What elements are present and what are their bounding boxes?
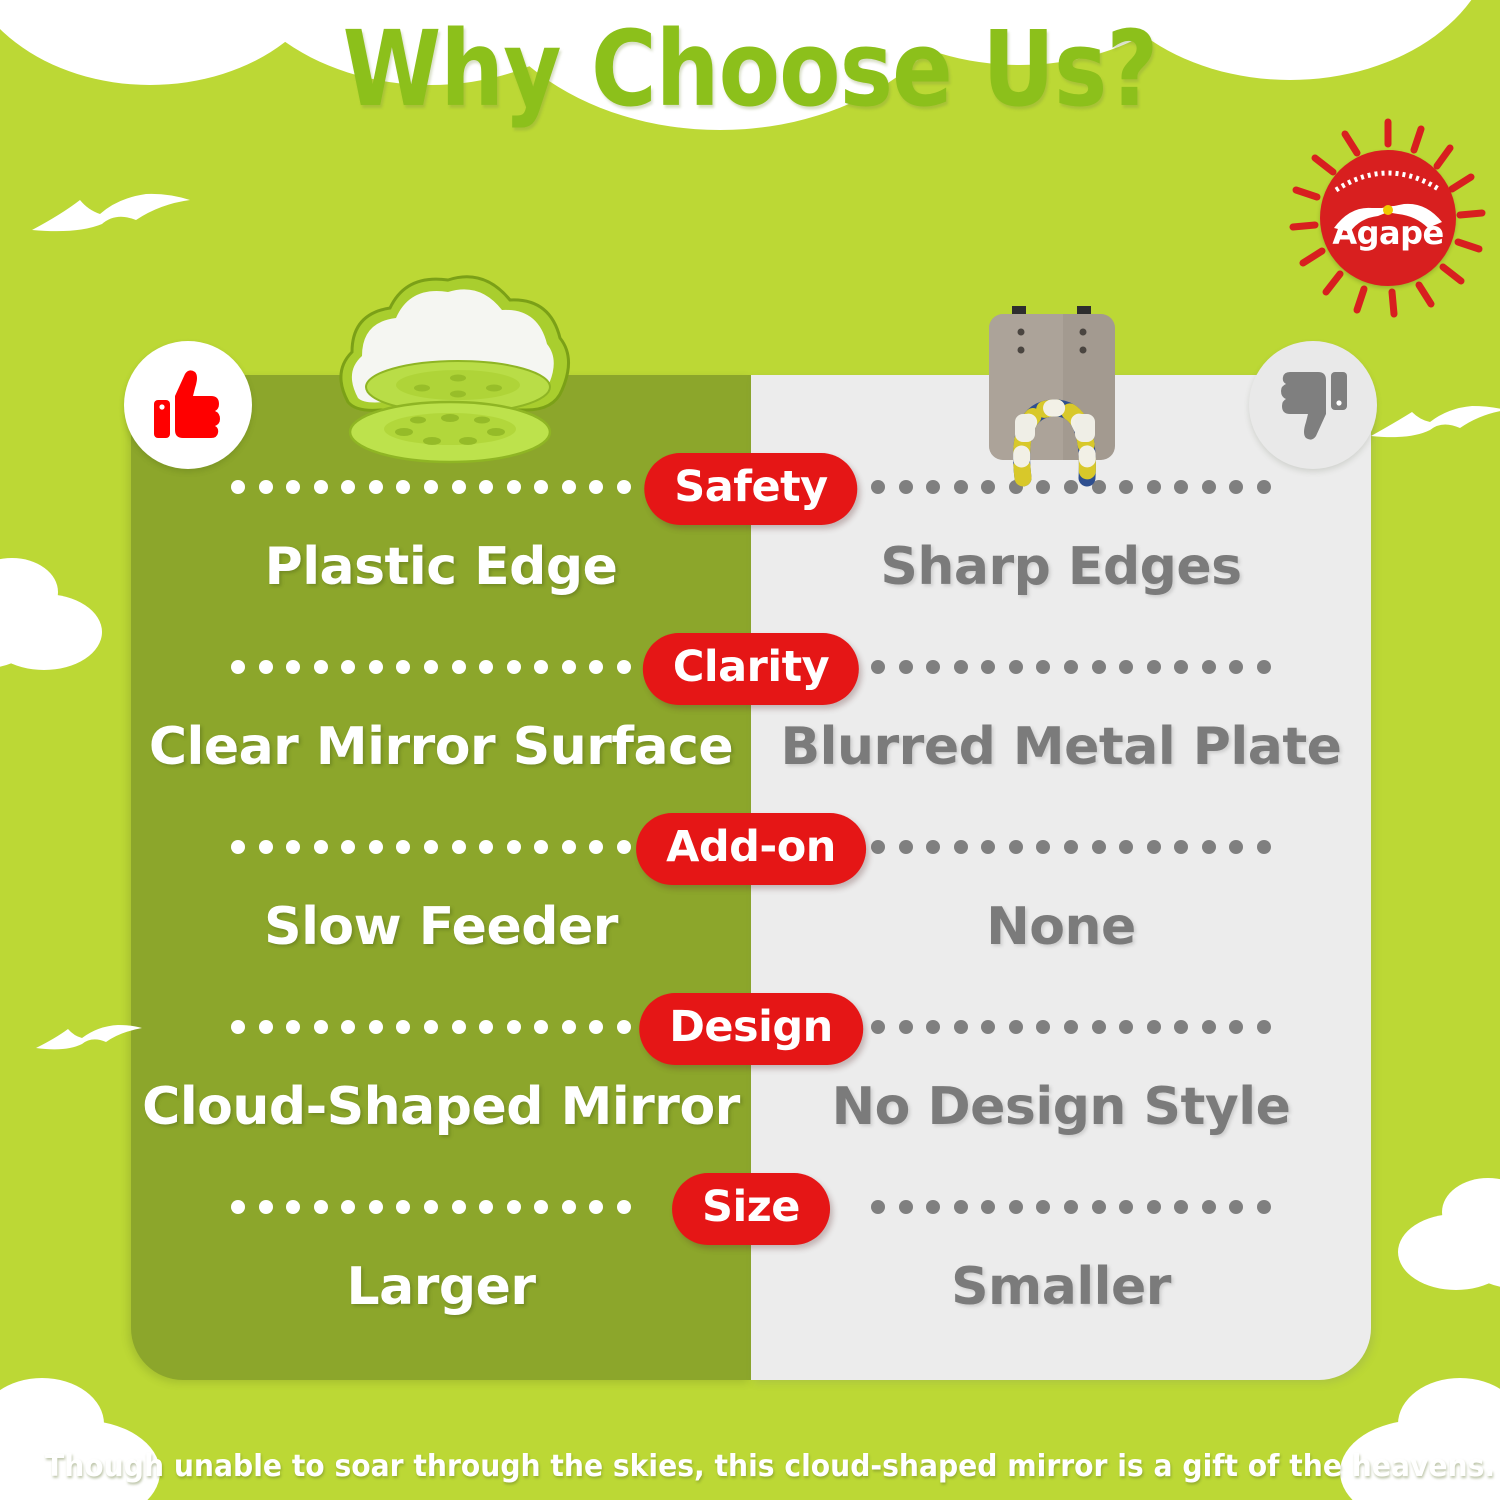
- comparison-row: Clarity Clear Mirror Surface Blurred Met…: [131, 625, 1371, 799]
- thumbs-up-icon: [147, 364, 229, 446]
- logo-text: Agape: [1320, 214, 1456, 252]
- cloud-decoration-right-mid: [1386, 1160, 1500, 1290]
- comparison-row: Safety Plastic Edge Sharp Edges: [131, 445, 1371, 619]
- dotted-line-right: [871, 1020, 1271, 1034]
- criterion-badge-safety: Safety: [644, 453, 857, 525]
- bird-icon-top-left: [28, 186, 198, 236]
- good-value-addon: Slow Feeder: [141, 897, 741, 957]
- bad-value-safety: Sharp Edges: [761, 537, 1361, 597]
- bad-value-design: No Design Style: [761, 1077, 1361, 1137]
- thumbs-down-icon: [1272, 364, 1354, 446]
- thumbs-up-badge: [124, 341, 252, 469]
- infographic-canvas: Why Choose Us?: [0, 0, 1500, 1500]
- bad-value-addon: None: [761, 897, 1361, 957]
- criterion-badge-design: Design: [639, 993, 863, 1065]
- dotted-line-right: [871, 1200, 1271, 1214]
- dotted-line-right: [871, 840, 1271, 854]
- criterion-badge-size: Size: [672, 1173, 830, 1245]
- bird-icon-left-mid: [34, 1018, 144, 1054]
- good-value-design: Cloud-Shaped Mirror: [141, 1077, 741, 1137]
- dotted-line-left: [231, 1200, 631, 1214]
- bad-value-size: Smaller: [761, 1257, 1361, 1317]
- bottom-caption: Though unable to soar through the skies,…: [45, 1449, 1455, 1484]
- dotted-line-left: [231, 1020, 631, 1034]
- criterion-badge-addon: Add-on: [636, 813, 866, 885]
- cloud-mirror-product-image: [318, 252, 588, 467]
- comparison-rows: Safety Plastic Edge Sharp Edges Clarity …: [131, 375, 1371, 1380]
- bird-icon-right: [1368, 398, 1500, 442]
- good-value-clarity: Clear Mirror Surface: [141, 717, 741, 777]
- dotted-line-right: [871, 660, 1271, 674]
- dotted-line-left: [231, 480, 631, 494]
- dotted-line-left: [231, 660, 631, 674]
- good-value-safety: Plastic Edge: [141, 537, 741, 597]
- agape-logo[interactable]: Agape: [1288, 118, 1488, 318]
- comparison-row: Size Larger Smaller: [131, 1165, 1371, 1339]
- thumbs-down-badge: [1249, 341, 1377, 469]
- cloud-decoration-left-mid: [0, 540, 114, 670]
- bad-value-clarity: Blurred Metal Plate: [761, 717, 1361, 777]
- comparison-row: Add-on Slow Feeder None: [131, 805, 1371, 979]
- dotted-line-left: [231, 840, 631, 854]
- metal-plate-product-image: [965, 288, 1155, 493]
- page-title: Why Choose Us?: [105, 8, 1395, 130]
- comparison-row: Design Cloud-Shaped Mirror No Design Sty…: [131, 985, 1371, 1159]
- criterion-badge-clarity: Clarity: [643, 633, 859, 705]
- good-value-size: Larger: [141, 1257, 741, 1317]
